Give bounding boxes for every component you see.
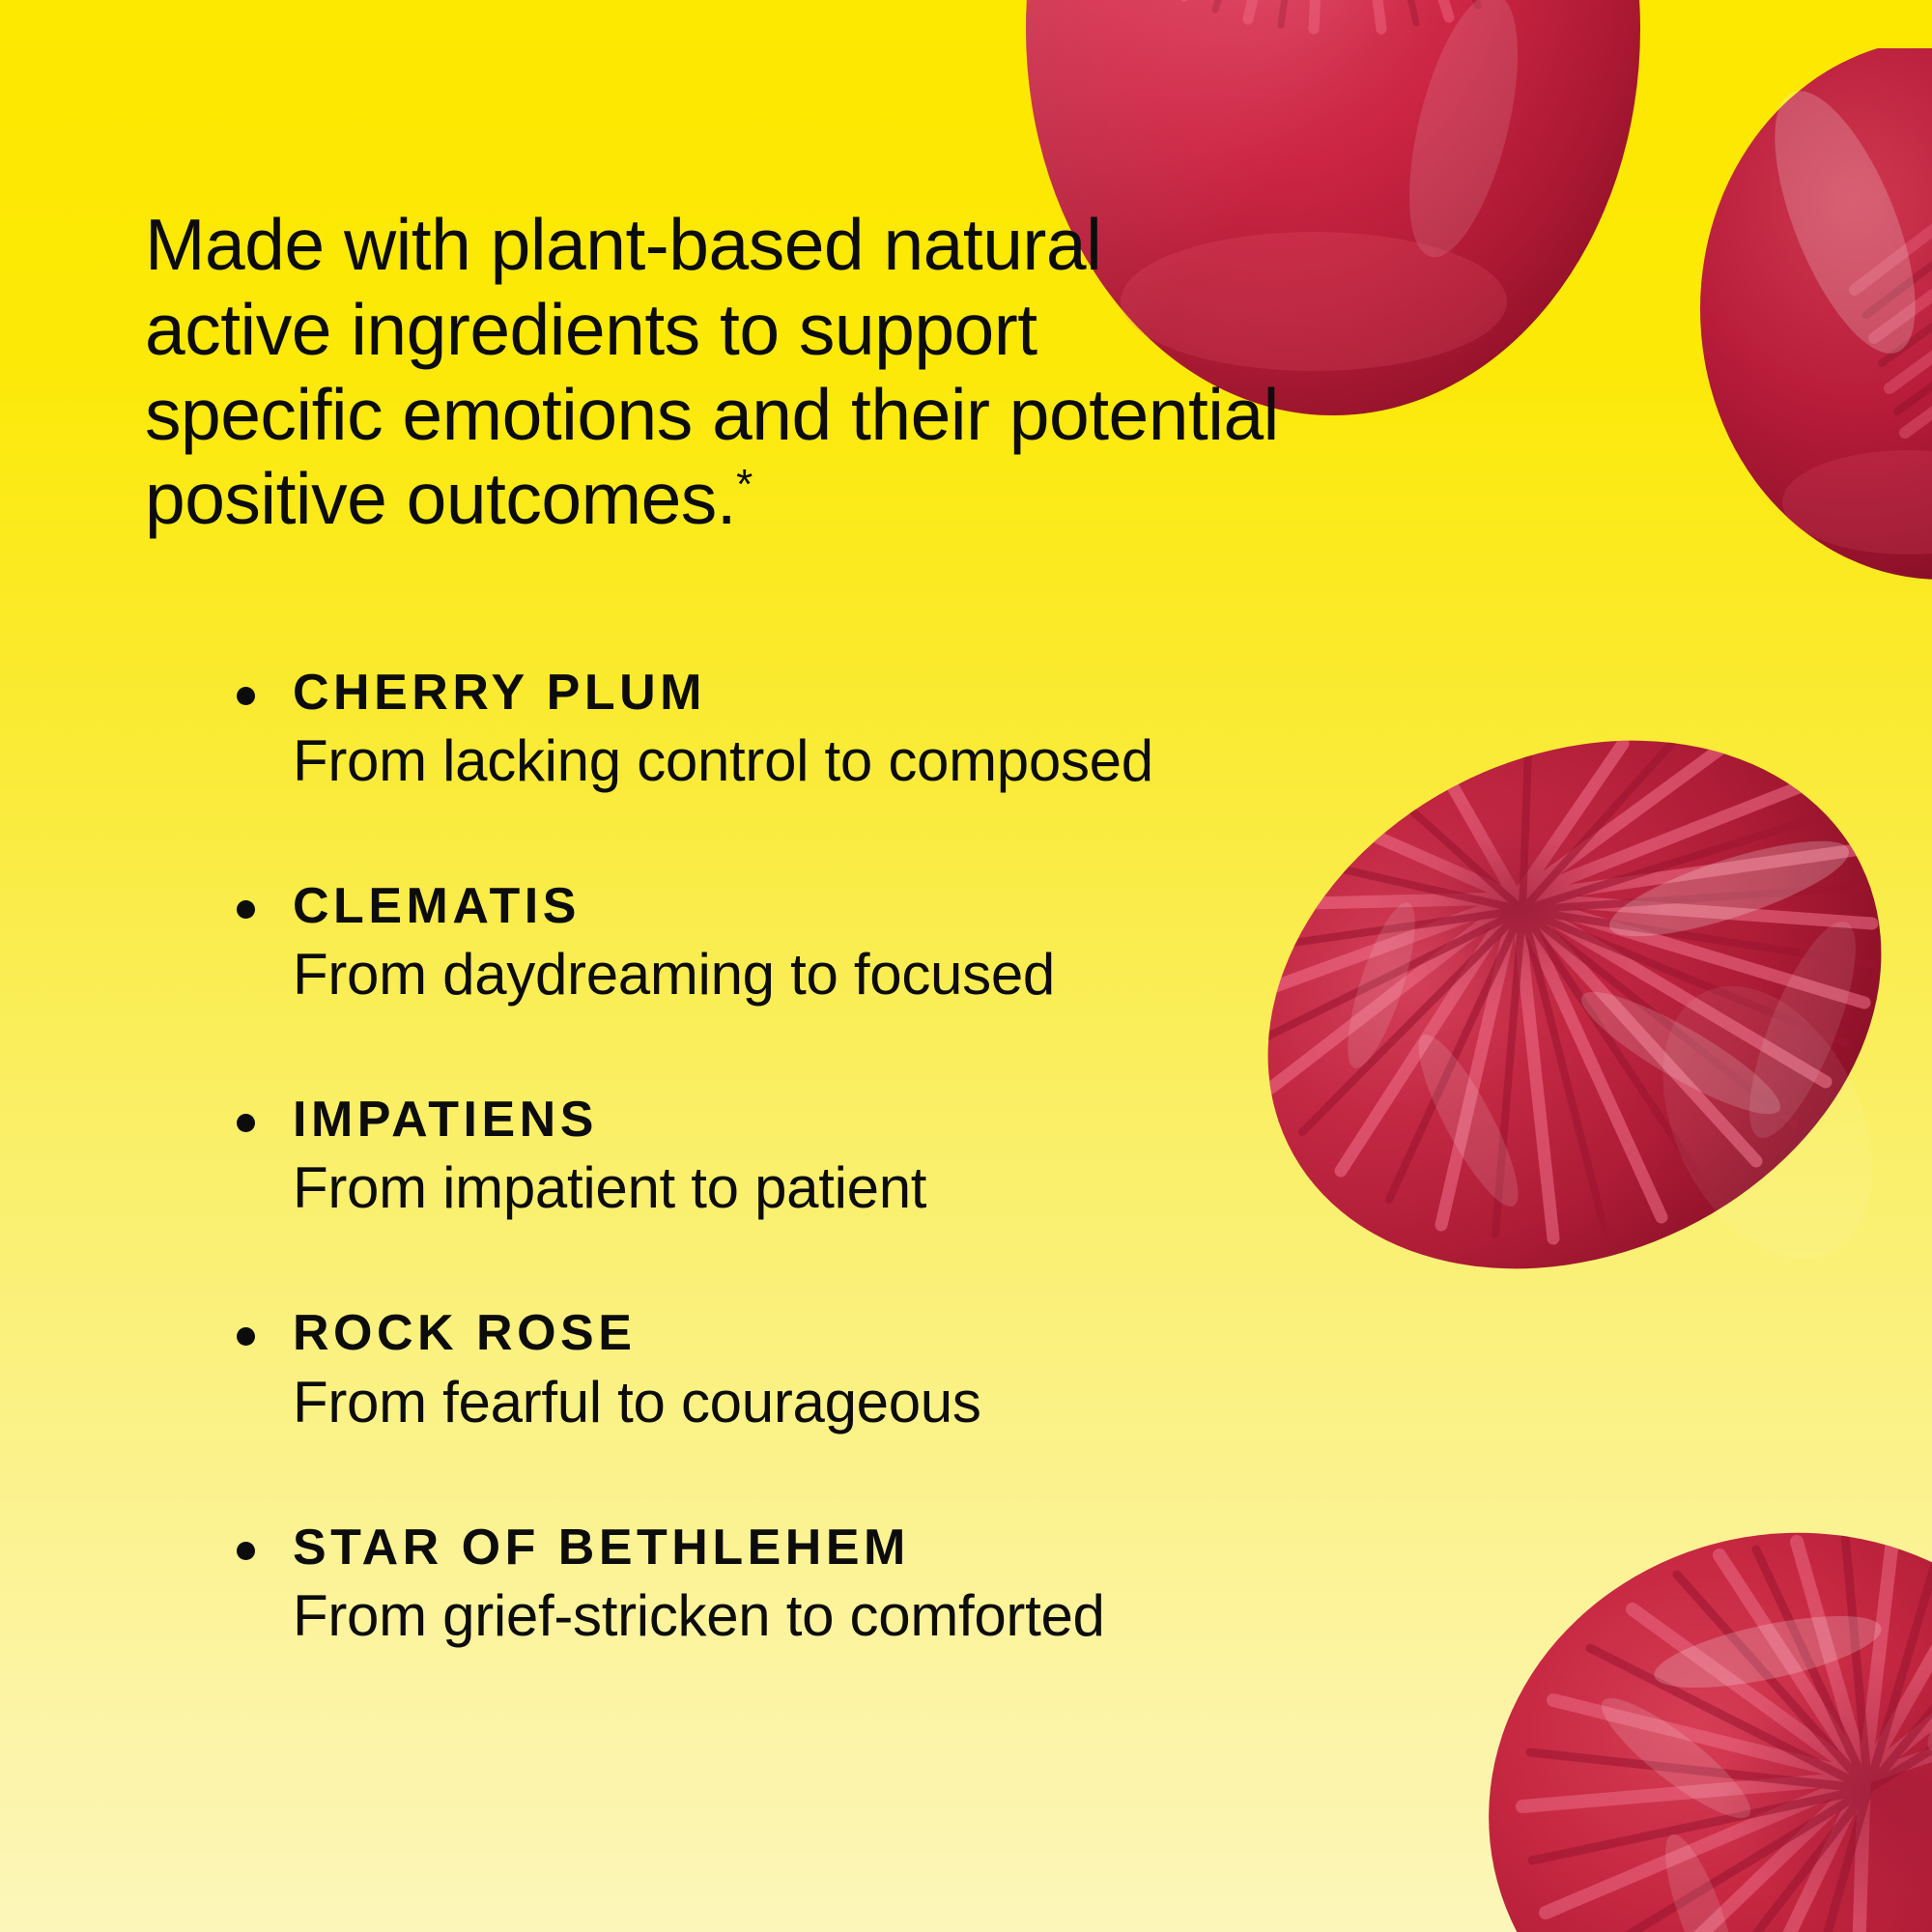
list-item: ROCK ROSE From fearful to courageous xyxy=(227,1306,1594,1436)
bullet-dot-icon xyxy=(237,1114,255,1132)
ingredient-name: IMPATIENS xyxy=(293,1093,1594,1147)
ingredient-name: CHERRY PLUM xyxy=(293,666,1594,720)
footnote-asterisk: * xyxy=(736,461,753,508)
gummy-top-right-decoration xyxy=(1700,48,1932,589)
ingredient-description: From grief-stricken to comforted xyxy=(293,1581,1594,1651)
content-block: Made with plant-based natural active ing… xyxy=(145,203,1594,1651)
page-headline: Made with plant-based natural active ing… xyxy=(145,203,1285,542)
list-item: IMPATIENS From impatient to patient xyxy=(227,1093,1594,1223)
ingredient-description: From daydreaming to focused xyxy=(293,940,1594,1009)
poster-canvas: Made with plant-based natural active ing… xyxy=(0,0,1932,1932)
ingredient-description: From impatient to patient xyxy=(293,1153,1594,1223)
bullet-dot-icon xyxy=(237,1542,255,1560)
ingredient-name: STAR OF BETHLEHEM xyxy=(293,1520,1594,1575)
bullet-dot-icon xyxy=(237,1327,255,1346)
headline-text: Made with plant-based natural active ing… xyxy=(145,204,1279,539)
ingredient-list: CHERRY PLUM From lacking control to comp… xyxy=(227,666,1594,1651)
ingredient-name: CLEMATIS xyxy=(293,879,1594,933)
bullet-dot-icon xyxy=(237,900,255,919)
list-item: CLEMATIS From daydreaming to focused xyxy=(227,879,1594,1009)
list-item: CHERRY PLUM From lacking control to comp… xyxy=(227,666,1594,796)
bullet-dot-icon xyxy=(237,687,255,705)
ingredient-description: From lacking control to composed xyxy=(293,726,1594,796)
ingredient-description: From fearful to courageous xyxy=(293,1368,1594,1437)
ingredient-name: ROCK ROSE xyxy=(293,1306,1594,1360)
list-item: STAR OF BETHLEHEM From grief-stricken to… xyxy=(227,1520,1594,1651)
